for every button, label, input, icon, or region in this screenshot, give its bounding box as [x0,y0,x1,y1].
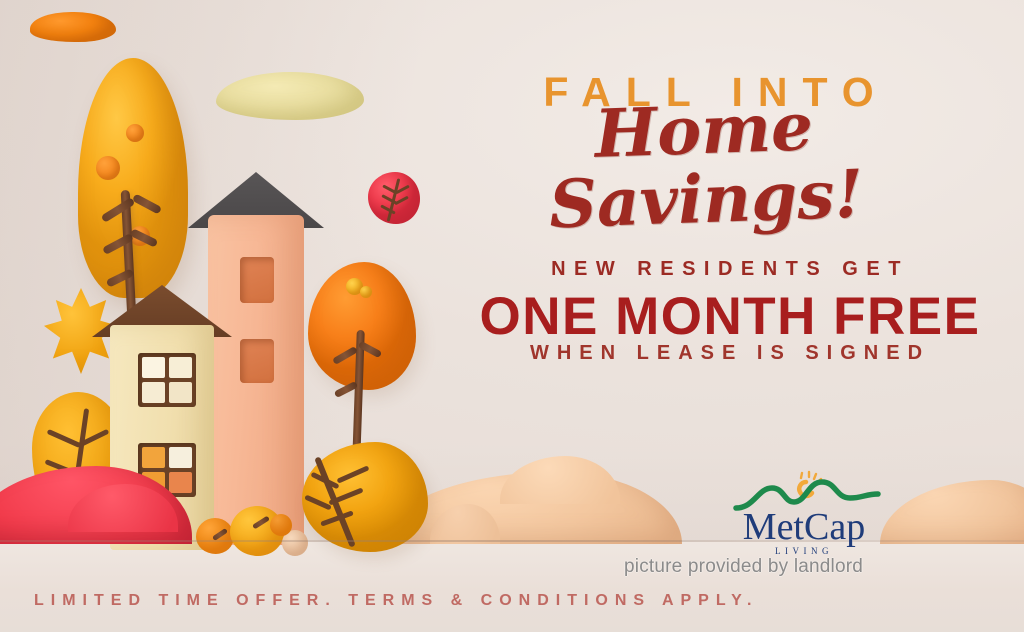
footer-disclaimer: LIMITED TIME OFFER. TERMS & CONDITIONS A… [34,592,759,610]
metcap-logo: MetCap LIVING [714,468,894,564]
leaf-vein [304,495,332,511]
tree-berry [360,286,372,298]
green-hills-icon [736,482,878,508]
watermark-text: picture provided by landlord [624,556,863,578]
peach-house-window [240,257,274,303]
cream-house-window-upper [138,353,196,407]
leaf-vein [336,465,369,483]
peach-house-window [240,339,274,383]
leaf-vein [394,196,409,206]
metcap-tagline: LIVING [714,546,894,556]
tree-berry [96,156,120,180]
tan-hill-right [880,480,1024,544]
pumpkin-tiny [270,514,292,536]
offer-condition: WHEN LEASE IS SIGNED [460,342,1000,365]
promo-banner: FALL INTO Home Savings! NEW RESIDENTS GE… [0,0,1024,632]
offer-eyebrow: NEW RESIDENTS GET [460,258,1000,281]
headline-script: Home Savings! [478,88,933,242]
tree-berry [126,124,144,142]
leaf-vein [47,429,82,448]
big-amber-leaf [302,442,428,552]
cream-cloud-shape [216,72,364,120]
red-leaf-shape [368,172,420,224]
orange-cloud-shape [30,12,116,42]
metcap-wordmark: MetCap [714,508,894,546]
offer-headline: ONE MONTH FREE [450,288,1010,345]
peach-house-body [208,215,304,545]
